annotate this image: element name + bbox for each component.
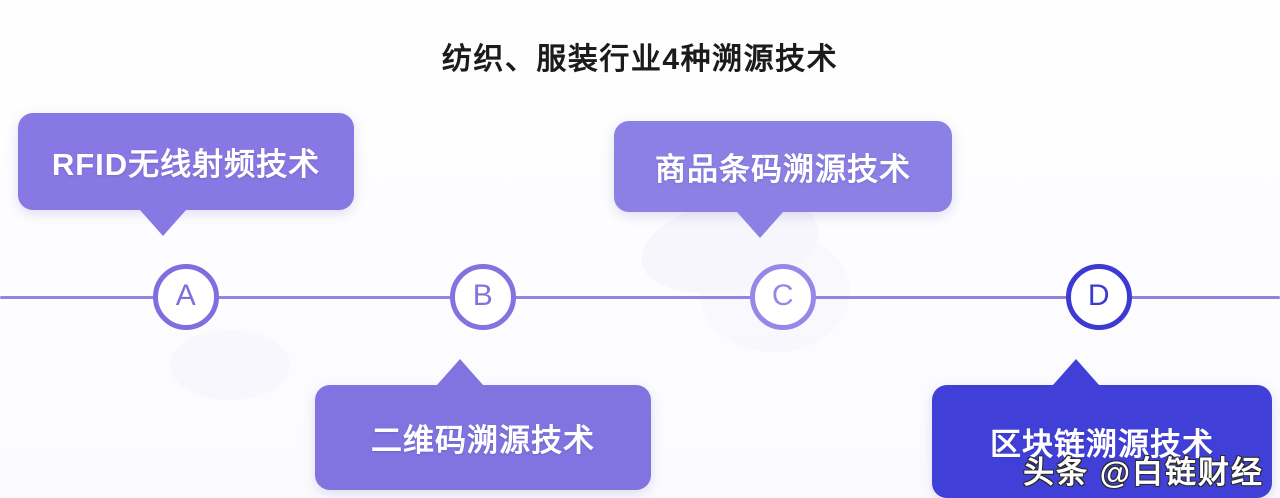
watermark-account: 白链财经 bbox=[1132, 455, 1264, 490]
watermark: 头条 @白链财经 bbox=[1023, 447, 1264, 492]
timeline-node-label: D bbox=[1088, 281, 1110, 311]
timeline-node-label: C bbox=[772, 281, 794, 311]
background-blob-3 bbox=[170, 330, 290, 400]
page-title: 纺织、服装行业4种溯源技术 bbox=[0, 34, 1280, 78]
tech-card-tail-a bbox=[140, 210, 186, 236]
timeline-node-a[interactable]: A bbox=[153, 264, 219, 330]
tech-card-tail-b bbox=[437, 359, 483, 385]
tech-card-tail-d bbox=[1053, 359, 1099, 385]
tech-card-label: RFID无线射频技术 bbox=[52, 139, 320, 184]
tech-card-label: 商品条码溯源技术 bbox=[655, 144, 911, 189]
tech-card-tail-c bbox=[737, 212, 783, 238]
watermark-at: @ bbox=[1100, 455, 1132, 490]
timeline-node-c[interactable]: C bbox=[750, 264, 816, 330]
timeline-node-d[interactable]: D bbox=[1066, 264, 1132, 330]
tech-card-b[interactable]: 二维码溯源技术 bbox=[315, 385, 651, 490]
timeline-node-label: B bbox=[473, 281, 494, 311]
tech-card-label: 二维码溯源技术 bbox=[371, 415, 595, 460]
slide-canvas: 纺织、服装行业4种溯源技术 RFID无线射频技术商品条码溯源技术二维码溯源技术区… bbox=[0, 0, 1280, 498]
watermark-prefix: 头条 bbox=[1023, 455, 1089, 490]
tech-card-c[interactable]: 商品条码溯源技术 bbox=[614, 121, 952, 212]
timeline-node-label: A bbox=[176, 281, 197, 311]
timeline-node-b[interactable]: B bbox=[450, 264, 516, 330]
tech-card-a[interactable]: RFID无线射频技术 bbox=[18, 113, 354, 210]
